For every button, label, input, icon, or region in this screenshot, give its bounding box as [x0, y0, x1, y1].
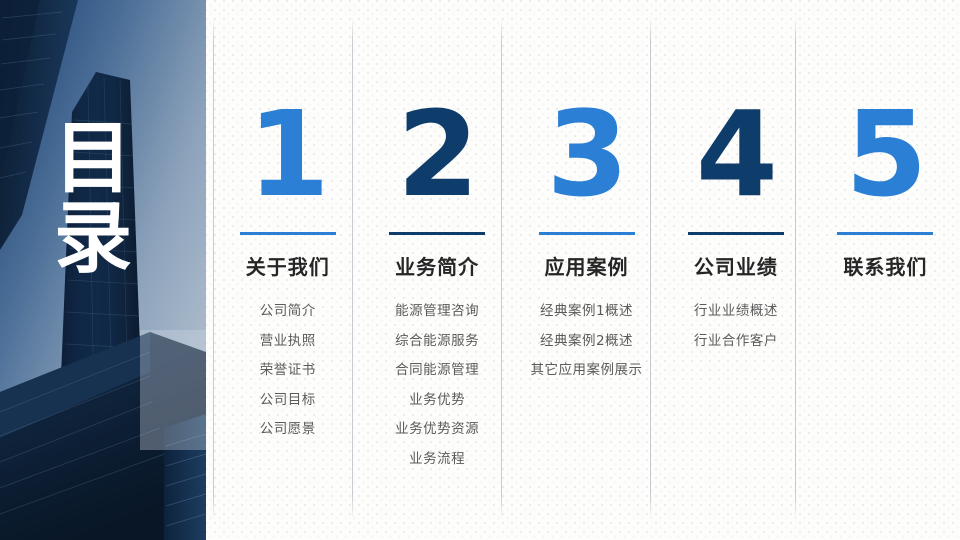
agenda-items-1: 公司简介 营业执照 荣誉证书 公司目标 公司愿景 — [260, 297, 316, 445]
slide-canvas: 目 录 1 关于我们 公司简介 营业执照 荣誉证书 公司目标 公司愿景 2 业务… — [0, 0, 960, 540]
cover-photo-panel: 目 录 — [0, 0, 206, 540]
agenda-number-1: 1 — [248, 92, 328, 218]
agenda-column-3[interactable]: 3 应用案例 经典案例1概述 经典案例2概述 其它应用案例展示 — [512, 0, 661, 540]
list-item[interactable]: 能源管理咨询 — [395, 297, 479, 327]
agenda-number-4: 4 — [696, 92, 776, 218]
list-item[interactable]: 经典案例1概述 — [540, 297, 633, 327]
agenda-title-2[interactable]: 业务简介 — [395, 251, 479, 280]
agenda-number-2: 2 — [397, 92, 477, 218]
list-item[interactable]: 经典案例2概述 — [540, 327, 633, 357]
page-title-char-2: 录 — [46, 200, 140, 280]
agenda-items-4: 行业业绩概述 行业合作客户 — [694, 297, 778, 356]
agenda-title-1[interactable]: 关于我们 — [246, 251, 330, 280]
agenda-columns: 1 关于我们 公司简介 营业执照 荣誉证书 公司目标 公司愿景 2 业务简介 能… — [213, 0, 960, 540]
agenda-column-4[interactable]: 4 公司业绩 行业业绩概述 行业合作客户 — [661, 0, 810, 540]
agenda-rule-4 — [688, 232, 784, 235]
list-item[interactable]: 营业执照 — [260, 327, 316, 357]
list-item[interactable]: 业务优势资源 — [395, 415, 479, 445]
agenda-items-2: 能源管理咨询 综合能源服务 合同能源管理 业务优势 业务优势资源 业务流程 — [395, 297, 479, 474]
list-item[interactable]: 其它应用案例展示 — [531, 356, 643, 386]
agenda-number-3: 3 — [546, 92, 626, 218]
agenda-number-5: 5 — [845, 92, 925, 218]
agenda-title-3[interactable]: 应用案例 — [545, 251, 629, 280]
agenda-title-5[interactable]: 联系我们 — [843, 251, 927, 280]
agenda-title-4[interactable]: 公司业绩 — [694, 251, 778, 280]
agenda-items-3: 经典案例1概述 经典案例2概述 其它应用案例展示 — [531, 297, 643, 386]
agenda-rule-2 — [389, 232, 485, 235]
agenda-rule-1 — [240, 232, 336, 235]
agenda-column-1[interactable]: 1 关于我们 公司简介 营业执照 荣誉证书 公司目标 公司愿景 — [213, 0, 362, 540]
page-title-char-1: 目 — [46, 120, 140, 200]
list-item[interactable]: 合同能源管理 — [395, 356, 479, 386]
list-item[interactable]: 公司愿景 — [260, 415, 316, 445]
list-item[interactable]: 公司目标 — [260, 386, 316, 416]
list-item[interactable]: 行业合作客户 — [694, 327, 778, 357]
list-item[interactable]: 公司简介 — [260, 297, 316, 327]
list-item[interactable]: 综合能源服务 — [395, 327, 479, 357]
list-item[interactable]: 业务优势 — [409, 386, 465, 416]
agenda-column-2[interactable]: 2 业务简介 能源管理咨询 综合能源服务 合同能源管理 业务优势 业务优势资源 … — [362, 0, 511, 540]
agenda-column-5[interactable]: 5 联系我们 — [811, 0, 960, 540]
list-item[interactable]: 行业业绩概述 — [694, 297, 778, 327]
list-item[interactable]: 荣誉证书 — [260, 356, 316, 386]
list-item[interactable]: 业务流程 — [409, 445, 465, 475]
agenda-rule-5 — [837, 232, 933, 235]
agenda-rule-3 — [539, 232, 635, 235]
page-title: 目 录 — [46, 120, 140, 279]
